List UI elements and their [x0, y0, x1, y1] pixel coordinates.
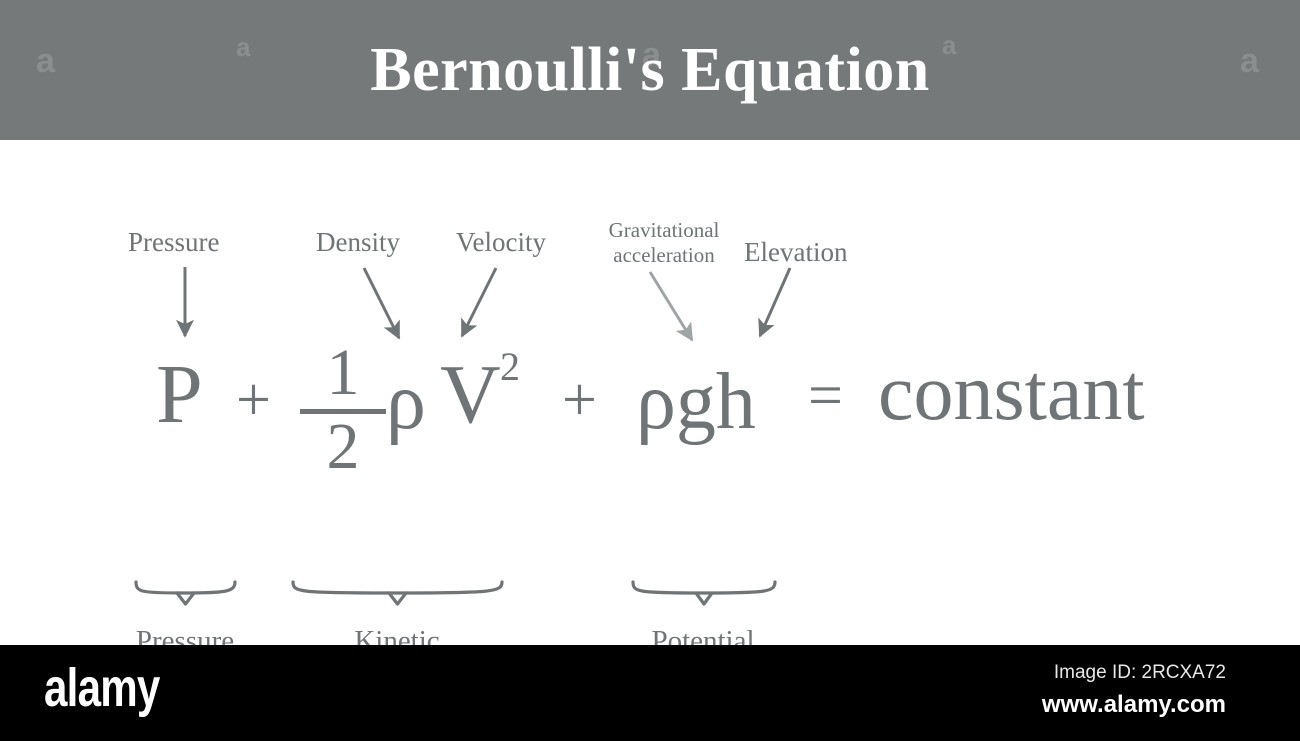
- label-pressure: Pressure: [128, 228, 219, 256]
- fraction-numerator: 1: [300, 341, 386, 406]
- brace-potential-energy: [630, 580, 778, 606]
- header-bar: a a a a a Bernoulli's Equation: [0, 0, 1300, 140]
- bernoulli-equation: P + 1 2 ρ V 2 + ρgh = constant: [0, 335, 1300, 455]
- equation-equals-sign: =: [808, 365, 843, 427]
- page-title: Bernoulli's Equation: [0, 0, 1300, 140]
- alamy-url-text: www.alamy.com: [1042, 693, 1226, 717]
- arrow-density: [364, 268, 399, 338]
- equation-plus-sign: +: [236, 369, 271, 431]
- brace-kinetic-energy: [290, 580, 505, 606]
- equation-plus-sign: +: [562, 369, 597, 431]
- equation-term-rho-g-h: ρgh: [636, 362, 756, 442]
- equation-term-pressure: P: [156, 353, 203, 437]
- label-elevation: Elevation: [744, 238, 847, 266]
- equation-term-rho: ρ: [386, 362, 426, 442]
- arrow-gravitational-acceleration: [650, 272, 692, 340]
- equation-term-velocity: V: [440, 353, 501, 437]
- label-gravitational-acceleration: Gravitational acceleration: [600, 218, 728, 268]
- fraction-denominator: 2: [300, 415, 386, 480]
- equation-exponent-two: 2: [500, 347, 520, 387]
- arrow-velocity: [462, 268, 496, 336]
- equation-fraction-one-half: 1 2: [300, 341, 386, 479]
- alamy-logo: alamy: [44, 661, 160, 715]
- equation-diagram: Pressure Density Velocity Gravitational …: [0, 140, 1300, 645]
- arrow-elevation: [760, 268, 790, 336]
- footer-watermark-bar: alamy Image ID: 2RCXA72 www.alamy.com: [0, 645, 1300, 741]
- image-id-text: Image ID: 2RCXA72: [1054, 663, 1226, 682]
- label-velocity: Velocity: [456, 228, 546, 256]
- brace-pressure-energy: [133, 580, 238, 606]
- label-density: Density: [316, 228, 400, 256]
- equation-term-constant: constant: [878, 353, 1145, 433]
